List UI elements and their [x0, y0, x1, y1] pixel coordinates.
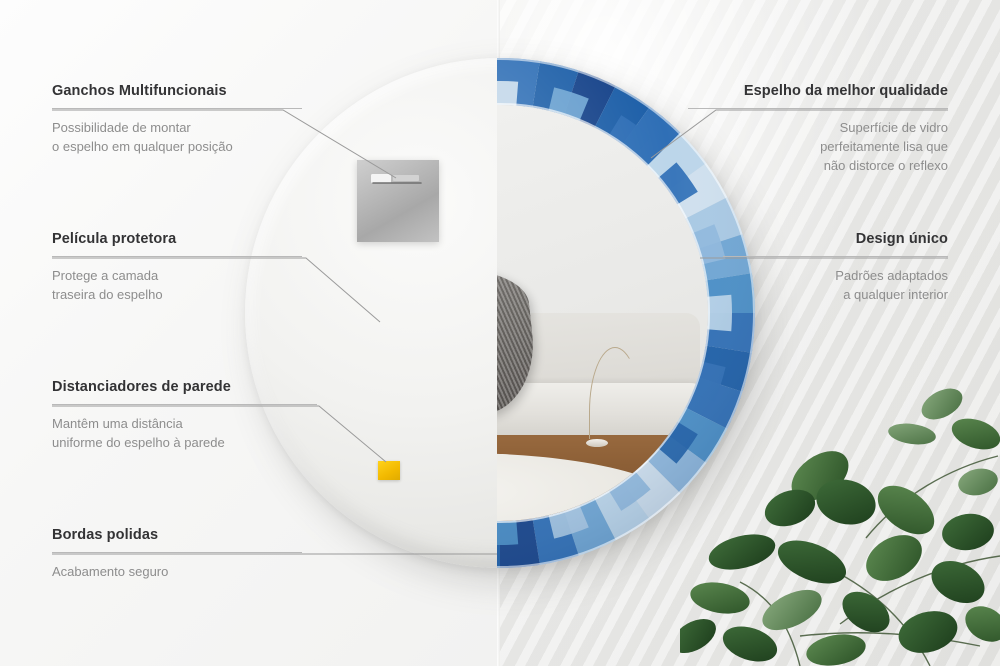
callout-title: Design único: [723, 231, 948, 247]
mirror-glass-surface: [497, 105, 708, 521]
callout-title: Distanciadores de parede: [52, 379, 317, 395]
wall-spacer-block-icon: [378, 461, 400, 480]
floor-lamp-base: [586, 439, 608, 447]
callout-rule: [52, 404, 317, 405]
callout-description: Padrões adaptados a qualquer interior: [723, 267, 948, 305]
callout-title: Espelho da melhor qualidade: [688, 83, 948, 99]
callout-description: Mantêm uma distância uniforme do espelho…: [52, 415, 317, 453]
mirror-product: [245, 58, 755, 568]
callout-description: Possibilidade de montar o espelho em qua…: [52, 119, 302, 157]
infographic-stage: Ganchos Multifuncionais Possibilidade de…: [0, 0, 1000, 666]
callout-bordas-polidas: Bordas polidas Acabamento seguro: [52, 527, 302, 582]
callout-description: Protege a camada traseira do espelho: [52, 267, 302, 305]
callout-rule: [723, 256, 948, 257]
callout-description: Acabamento seguro: [52, 563, 302, 582]
callout-ganchos-multifuncionais: Ganchos Multifuncionais Possibilidade de…: [52, 83, 302, 157]
callout-rule: [688, 108, 948, 109]
callout-distanciadores-de-parede: Distanciadores de parede Mantêm uma dist…: [52, 379, 317, 453]
wall-hook-plate-icon: [357, 160, 439, 242]
callout-title: Ganchos Multifuncionais: [52, 83, 302, 99]
callout-design-unico: Design único Padrões adaptados a qualque…: [723, 231, 948, 305]
reflected-room-scene: [497, 105, 708, 521]
callout-rule: [52, 256, 302, 257]
callout-title: Bordas polidas: [52, 527, 302, 543]
callout-title: Película protetora: [52, 231, 302, 247]
callout-espelho-da-melhor-qualidade: Espelho da melhor qualidade Superfície d…: [688, 83, 948, 176]
callout-rule: [52, 108, 302, 109]
callout-rule: [52, 552, 302, 553]
callout-description: Superfície de vidro perfeitamente lisa q…: [688, 119, 948, 176]
callout-pelicula-protetora: Película protetora Protege a camada tras…: [52, 231, 302, 305]
